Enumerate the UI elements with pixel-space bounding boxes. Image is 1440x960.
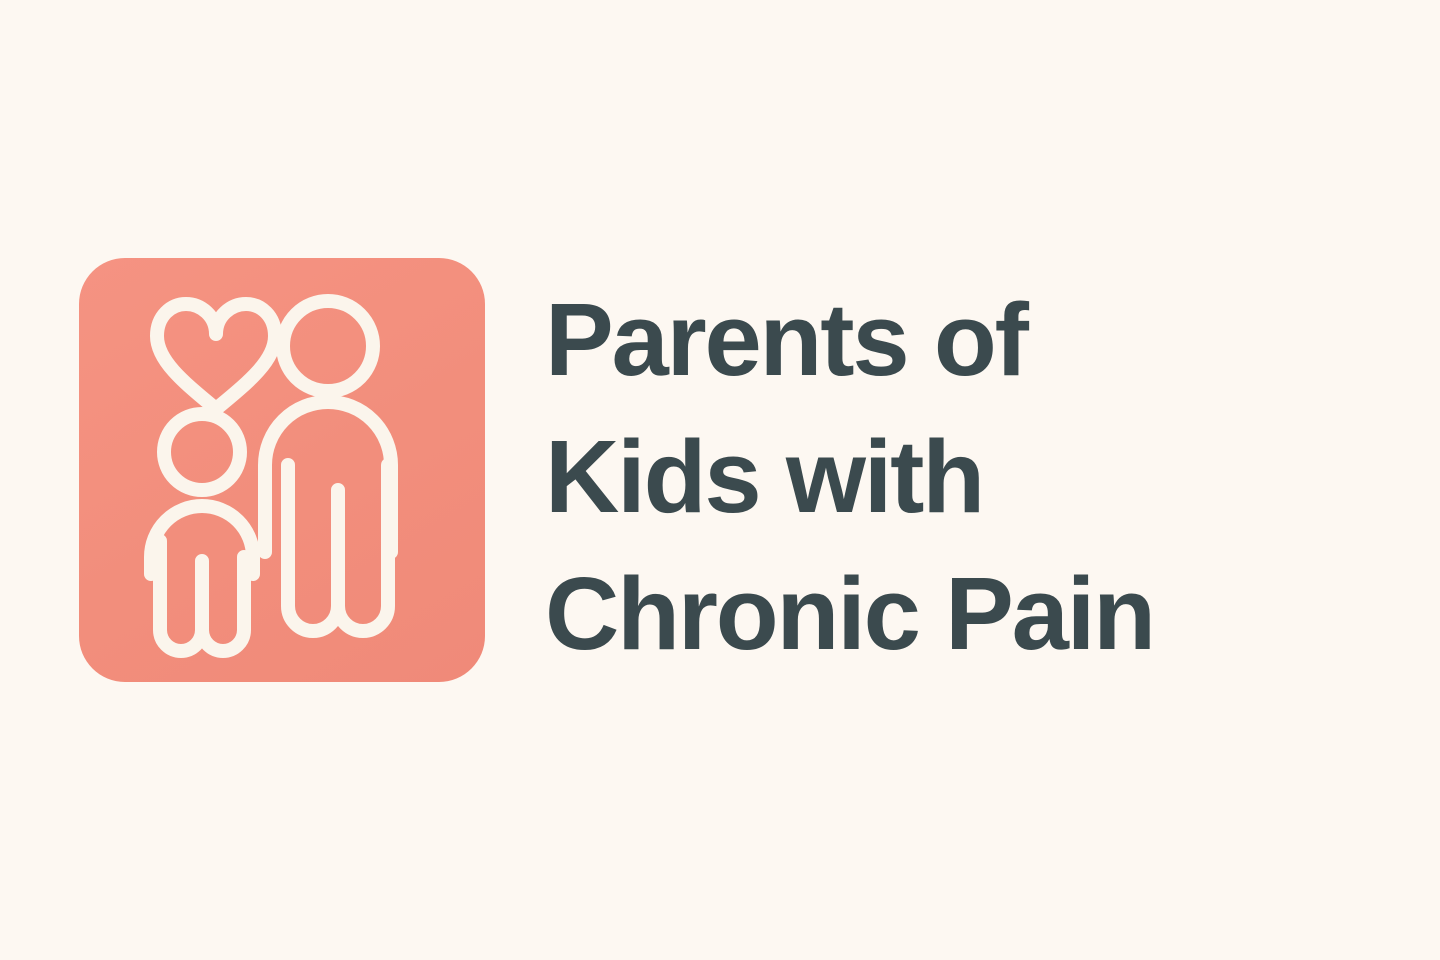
page-canvas: Parents of Kids with Chronic Pain <box>0 0 1440 960</box>
family-with-heart-icon <box>79 258 485 682</box>
headline-line-2: Kids with <box>545 408 1325 545</box>
adult-head-circle <box>283 301 373 391</box>
child-head-circle <box>164 414 240 490</box>
headline-line-3: Chronic Pain <box>545 545 1325 682</box>
headline-line-1: Parents of <box>545 271 1325 408</box>
family-with-heart-glyph <box>79 258 485 682</box>
adult-legs <box>288 465 388 631</box>
page-title: Parents of Kids with Chronic Pain <box>545 271 1325 682</box>
child-legs <box>160 541 244 651</box>
heart-outline <box>157 304 275 409</box>
